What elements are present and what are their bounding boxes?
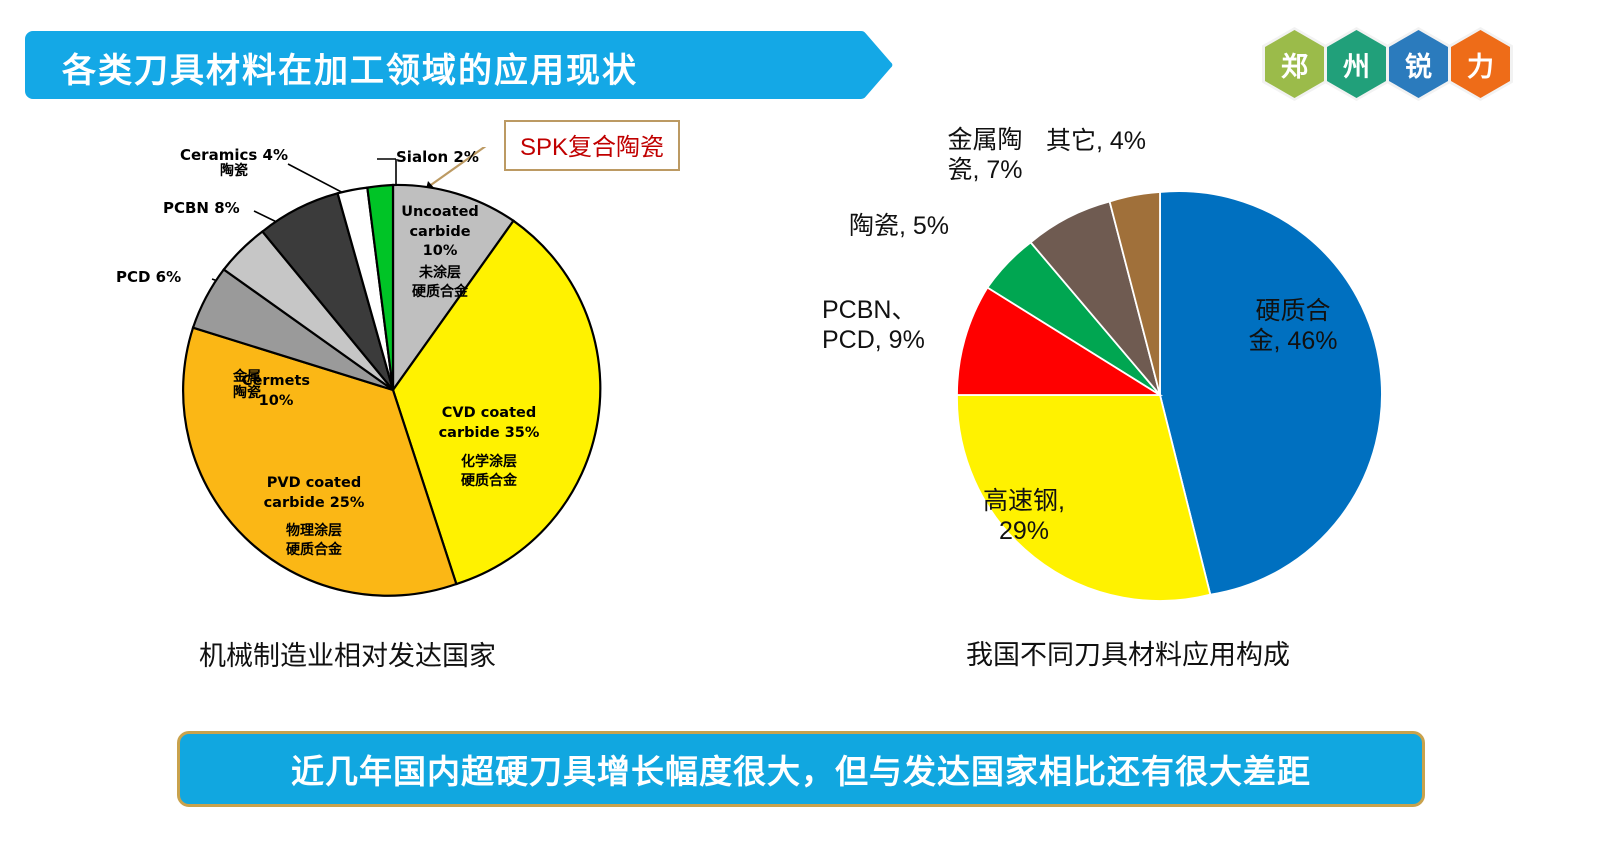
logo-hex-4: 力 xyxy=(1451,30,1510,98)
label-other-right: 其它, 4% xyxy=(1046,127,1146,157)
caption-right-chart: 我国不同刀具材料应用构成 xyxy=(966,633,1290,672)
label-cermets: Cermets 10% xyxy=(205,372,315,411)
label-pcbn: PCBN 8% xyxy=(163,201,240,217)
label-ceramics: Ceramics 4% 陶瓷 xyxy=(180,148,288,178)
page-title: 各类刀具材料在加工领域的应用现状 xyxy=(62,43,638,92)
label-pvd-coated-carbide: PVD coated carbide 25% 物理涂层 硬质合金 xyxy=(244,474,384,560)
label-ceramics-right: 陶瓷, 5% xyxy=(849,212,949,242)
summary-banner-text: 近几年国内超硬刀具增长幅度很大，但与发达国家相比还有很大差距 xyxy=(291,745,1311,793)
spk-callout-box: SPK复合陶瓷 xyxy=(504,120,680,171)
label-pcbn-pcd-right: PCBN、 PCD, 9% xyxy=(822,296,925,355)
logo-hex-3-char: 锐 xyxy=(1389,30,1448,98)
logo-hex-1-char: 郑 xyxy=(1265,30,1324,98)
logo-hex-3: 锐 xyxy=(1389,30,1448,98)
logo-hex-2: 州 xyxy=(1327,30,1386,98)
logo-hex-1: 郑 xyxy=(1265,30,1324,98)
label-high-speed-steel-right: 高速钢, 29% xyxy=(965,487,1083,546)
summary-banner: 近几年国内超硬刀具增长幅度很大，但与发达国家相比还有很大差距 xyxy=(177,731,1425,807)
caption-left-chart: 机械制造业相对发达国家 xyxy=(199,634,496,673)
label-cermet-right: 金属陶 瓷, 7% xyxy=(930,126,1040,185)
slide-root: 各类刀具材料在加工领域的应用现状 郑 州 锐 力 xyxy=(0,0,1600,859)
label-cvd-coated-carbide: CVD coated carbide 35% 化学涂层 硬质合金 xyxy=(419,404,559,491)
pie-chart-right xyxy=(917,152,1407,632)
label-uncoated-carbide: Uncoated carbide 10% 未涂层 硬质合金 xyxy=(392,203,488,301)
logo-hex-4-char: 力 xyxy=(1451,30,1510,98)
logo-hex-2-char: 州 xyxy=(1327,30,1386,98)
company-logo: 郑 州 锐 力 xyxy=(1265,30,1510,98)
label-pcd: PCD 6% xyxy=(116,270,181,286)
label-sialon: Sialon 2% xyxy=(396,150,479,166)
label-cemented-carbide-right: 硬质合 金, 46% xyxy=(1229,297,1357,356)
